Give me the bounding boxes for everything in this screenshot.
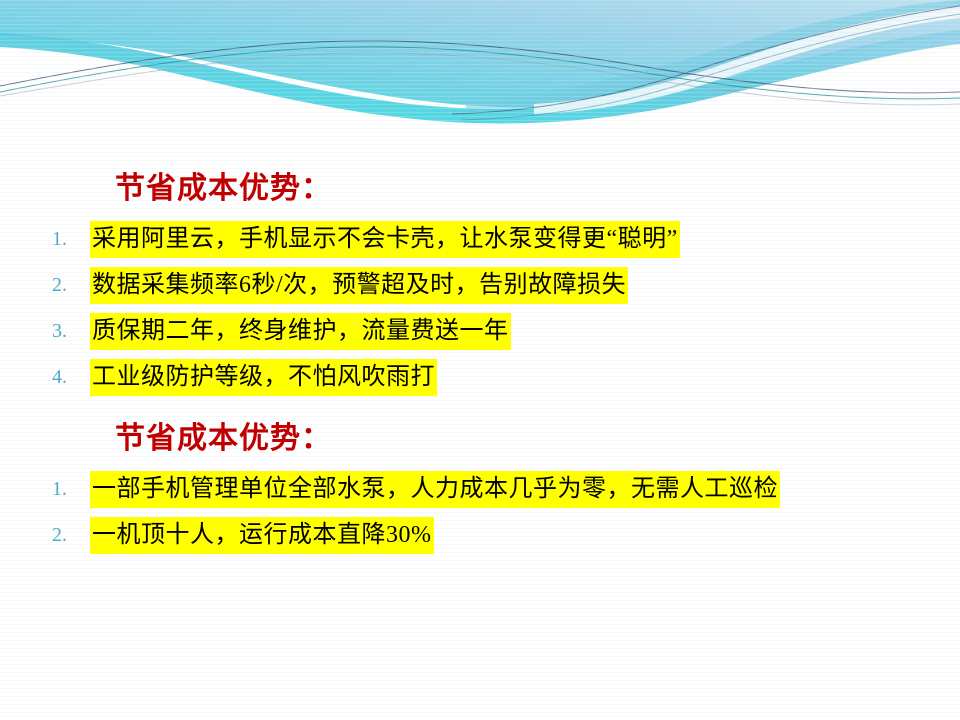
list-item: 3. 质保期二年，终身维护，流量费送一年 (0, 308, 960, 354)
bullet-number: 4. (52, 354, 84, 400)
list-item: 1. 采用阿里云，手机显示不会卡壳，让水泵变得更“聪明” (0, 216, 960, 262)
presentation-slide: 节省成本优势： 1. 采用阿里云，手机显示不会卡壳，让水泵变得更“聪明” 2. … (0, 0, 960, 720)
bullet-text: 质保期二年，终身维护，流量费送一年 (90, 313, 511, 350)
section-title: 节省成本优势： (0, 418, 960, 460)
slide-content: 节省成本优势： 1. 采用阿里云，手机显示不会卡壳，让水泵变得更“聪明” 2. … (0, 0, 960, 720)
list-item: 2. 数据采集频率6秒/次，预警超及时，告别故障损失 (0, 262, 960, 308)
bullet-list: 1. 一部手机管理单位全部水泵，人力成本几乎为零，无需人工巡检 2. 一机顶十人… (0, 466, 960, 558)
section-cost-saving-advantages-1: 节省成本优势： 1. 采用阿里云，手机显示不会卡壳，让水泵变得更“聪明” 2. … (0, 168, 960, 400)
bullet-text: 一部手机管理单位全部水泵，人力成本几乎为零，无需人工巡检 (90, 471, 780, 508)
bullet-text: 采用阿里云，手机显示不会卡壳，让水泵变得更“聪明” (90, 221, 680, 258)
section-cost-saving-advantages-2: 节省成本优势： 1. 一部手机管理单位全部水泵，人力成本几乎为零，无需人工巡检 … (0, 418, 960, 558)
bullet-number: 1. (52, 216, 84, 262)
bullet-list: 1. 采用阿里云，手机显示不会卡壳，让水泵变得更“聪明” 2. 数据采集频率6秒… (0, 216, 960, 400)
bullet-number: 2. (52, 262, 84, 308)
list-item: 2. 一机顶十人，运行成本直降30% (0, 512, 960, 558)
bullet-text: 数据采集频率6秒/次，预警超及时，告别故障损失 (90, 267, 628, 304)
bullet-number: 2. (52, 512, 84, 558)
list-item: 1. 一部手机管理单位全部水泵，人力成本几乎为零，无需人工巡检 (0, 466, 960, 512)
bullet-text: 工业级防护等级，不怕风吹雨打 (90, 359, 437, 396)
bullet-text: 一机顶十人，运行成本直降30% (90, 517, 434, 554)
bullet-number: 1. (52, 466, 84, 512)
list-item: 4. 工业级防护等级，不怕风吹雨打 (0, 354, 960, 400)
section-title: 节省成本优势： (0, 168, 960, 210)
bullet-number: 3. (52, 308, 84, 354)
